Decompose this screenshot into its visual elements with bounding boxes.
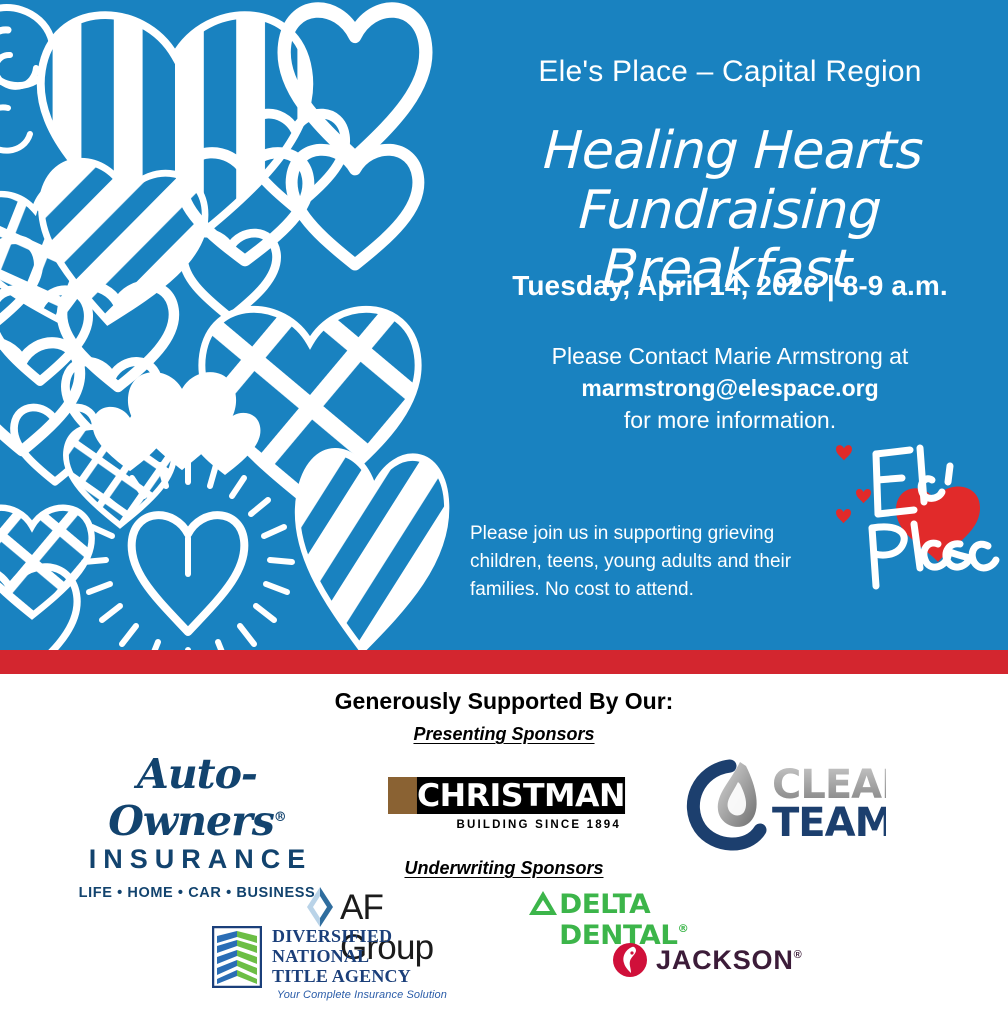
poster-root: Ele's Place – Capital Region Healing Hea… <box>0 0 1008 1024</box>
organization-name: Ele's Place – Capital Region <box>452 55 1008 89</box>
clean-team-line-2: TEAM <box>772 800 886 846</box>
sponsor-logo-af-group: AF Group <box>304 886 484 930</box>
auto-owners-script: Auto-Owners® <box>52 752 342 843</box>
jackson-horse-icon <box>612 942 648 978</box>
auto-owners-registered: ® <box>274 810 286 825</box>
tier-label-presenting-text: Presenting Sponsors <box>413 724 594 744</box>
red-divider-bar <box>0 650 1008 674</box>
dnt-tagline: Your Complete Insurance Solution <box>272 989 447 1001</box>
christman-row: CHRISTMAN <box>388 777 623 814</box>
delta-dental-registered: ® <box>677 922 688 935</box>
mission-blurb: Please join us in supporting grieving ch… <box>470 520 810 604</box>
contact-line-1: Please Contact Marie Armstrong at <box>452 340 1008 372</box>
sponsor-logo-jackson: JACKSON® <box>612 942 792 982</box>
hero-text-block: Ele's Place – Capital Region Healing Hea… <box>452 0 1008 650</box>
jackson-registered: ® <box>794 949 803 961</box>
auto-owners-wordmark: Auto-Owners <box>108 750 274 845</box>
sponsors-section: Generously Supported By Our: Presenting … <box>0 674 1008 1024</box>
dnt-line-1: DIVERSIFIED NATIONAL <box>272 926 447 966</box>
auto-owners-tagline: LIFE • HOME • CAR • BUSINESS <box>52 885 342 901</box>
eles-place-logo <box>834 440 1004 595</box>
tier-label-underwriting: Underwriting Sponsors <box>0 858 1008 879</box>
dnt-text-block: DIVERSIFIED NATIONAL TITLE AGENCY Your C… <box>272 926 447 1001</box>
christman-square-icon <box>388 777 419 814</box>
event-title-line-1: Healing Hearts <box>454 122 1008 181</box>
christman-wordmark: CHRISTMAN <box>417 777 625 814</box>
af-group-diamond-icon <box>304 886 338 928</box>
hearts-pattern-artwork <box>0 0 470 650</box>
tier-label-underwriting-text: Underwriting Sponsors <box>404 858 603 878</box>
dnt-line-2: TITLE AGENCY <box>272 966 447 986</box>
sponsor-logo-clean-team: CLEAN TEAM <box>686 756 886 851</box>
sponsor-logo-christman: CHRISTMAN BUILDING SINCE 1894 <box>388 777 623 831</box>
delta-dental-triangle-icon <box>528 889 558 917</box>
jackson-wordmark: JACKSON <box>656 945 794 975</box>
event-date-time: Tuesday, April 14, 2026 | 8-9 a.m. <box>452 270 1008 302</box>
contact-line-2: for more information. <box>452 404 1008 436</box>
christman-tagline: BUILDING SINCE 1894 <box>388 819 623 831</box>
jackson-wordmark-wrap: JACKSON® <box>656 945 803 976</box>
dnt-emblem-icon <box>212 926 262 988</box>
contact-block: Please Contact Marie Armstrong at marmst… <box>452 340 1008 436</box>
hero-section: Ele's Place – Capital Region Healing Hea… <box>0 0 1008 650</box>
contact-email[interactable]: marmstrong@elespace.org <box>452 372 1008 404</box>
tier-label-presenting: Presenting Sponsors <box>0 724 1008 745</box>
sponsors-heading: Generously Supported By Our: <box>0 688 1008 715</box>
sponsor-logo-diversified-national-title: DIVERSIFIED NATIONAL TITLE AGENCY Your C… <box>212 926 447 988</box>
sponsor-logo-delta-dental: DELTA DENTAL® <box>528 889 753 925</box>
